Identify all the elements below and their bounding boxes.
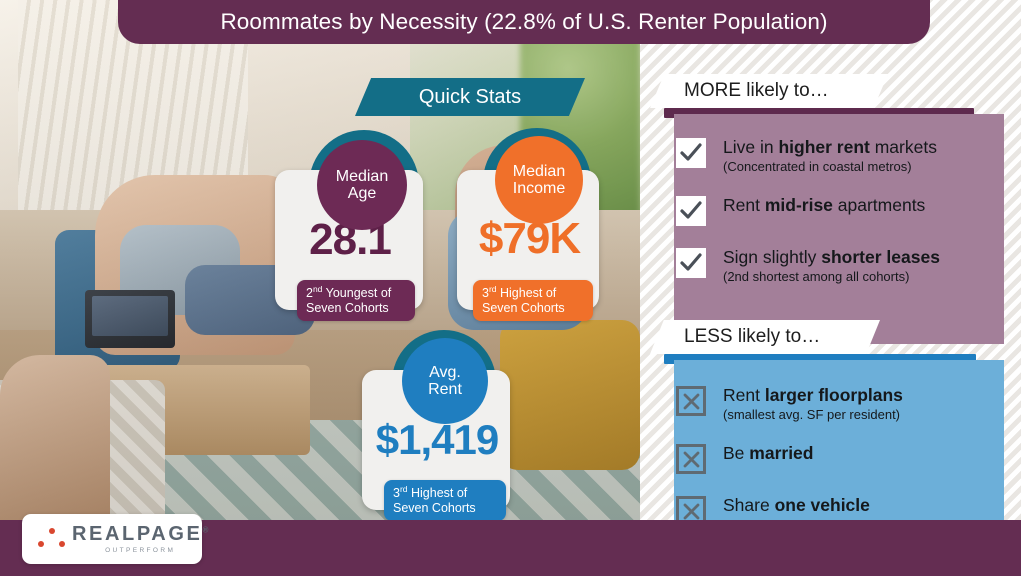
x-icon — [676, 444, 710, 474]
realpage-dots-icon — [36, 526, 70, 552]
stat-badge-line1: 2nd Youngest of — [306, 284, 406, 301]
list-item: Rent mid-rise apartments — [676, 196, 998, 226]
realpage-logo: REALPAGE® OUTPERFORM — [22, 514, 202, 564]
stat-bubble-line2: Income — [513, 180, 565, 197]
less-likely-panel: LESS likely to… Rent larger floorplans (… — [650, 296, 1010, 506]
list-item-text: Be married — [723, 444, 998, 464]
stat-card-avg-rent: Avg. Rent $1,419 3rd Highest of Seven Co… — [362, 330, 512, 530]
stat-bubble-median-income: Median Income — [495, 136, 583, 224]
stat-badge-line1: 3rd Highest of — [393, 484, 497, 501]
more-likely-header-label: MORE likely to… — [650, 80, 829, 102]
more-likely-panel: MORE likely to… Live in higher rent mark… — [650, 52, 1010, 302]
stat-bubble-line2: Rent — [428, 381, 462, 398]
stat-badge-median-income: 3rd Highest of Seven Cohorts — [473, 280, 593, 321]
page-title-bar: Roommates by Necessity (22.8% of U.S. Re… — [118, 0, 930, 44]
list-item: Sign slightly shorter leases (2nd shorte… — [676, 248, 998, 284]
stat-badge-line2: Seven Cohorts — [482, 301, 584, 316]
check-icon — [676, 196, 710, 226]
list-item: Be married — [676, 444, 998, 474]
more-likely-list: Live in higher rent markets (Concentrate… — [650, 114, 1010, 306]
stat-bubble-median-age: Median Age — [317, 140, 407, 230]
check-icon — [676, 248, 710, 278]
stat-bubble-line2: Age — [348, 185, 376, 202]
infographic-canvas: Roommates by Necessity (22.8% of U.S. Re… — [0, 0, 1021, 576]
more-likely-header: MORE likely to… — [650, 74, 888, 108]
stat-badge-line2: Seven Cohorts — [393, 501, 497, 516]
list-item-sub: (smallest avg. SF per resident) — [723, 407, 998, 423]
list-item-main: Be married — [723, 444, 998, 464]
stat-bubble-line1: Median — [336, 168, 388, 185]
realpage-name: REALPAGE® — [72, 524, 208, 544]
list-item-main: Live in higher rent markets — [723, 138, 998, 158]
list-item-main: Sign slightly shorter leases — [723, 248, 998, 268]
list-item-sub: (2nd shortest among all cohorts) — [723, 269, 998, 285]
quick-stats-ribbon: Quick Stats — [355, 78, 585, 116]
stat-card-median-income: Median Income $79K 3rd Highest of Seven … — [457, 128, 602, 328]
list-item: Rent larger floorplans (smallest avg. SF… — [676, 386, 998, 422]
list-item-text: Live in higher rent markets (Concentrate… — [723, 138, 998, 174]
list-item-main: Rent larger floorplans — [723, 386, 998, 406]
list-item: Live in higher rent markets (Concentrate… — [676, 138, 998, 174]
stat-bubble-line1: Avg. — [429, 364, 461, 381]
realpage-wordmark: REALPAGE® OUTPERFORM — [72, 524, 208, 554]
stat-card-median-age: Median Age 28.1 2nd Youngest of Seven Co… — [275, 130, 425, 330]
list-item-text: Rent mid-rise apartments — [723, 196, 998, 216]
x-icon — [676, 386, 710, 416]
realpage-tagline: OUTPERFORM — [72, 547, 208, 554]
stat-bubble-avg-rent: Avg. Rent — [402, 338, 488, 424]
check-icon — [676, 138, 710, 168]
page-title: Roommates by Necessity (22.8% of U.S. Re… — [220, 9, 827, 35]
list-item-text: Share one vehicle — [723, 496, 998, 516]
list-item-main: Share one vehicle — [723, 496, 998, 516]
less-likely-header-label: LESS likely to… — [650, 326, 820, 348]
list-item-text: Rent larger floorplans (smallest avg. SF… — [723, 386, 998, 422]
quick-stats-label: Quick Stats — [419, 86, 521, 109]
stat-badge-median-age: 2nd Youngest of Seven Cohorts — [297, 280, 415, 321]
stat-bubble-line1: Median — [513, 163, 565, 180]
stat-badge-line2: Seven Cohorts — [306, 301, 406, 316]
list-item-sub: (Concentrated in coastal metros) — [723, 159, 998, 175]
list-item-text: Sign slightly shorter leases (2nd shorte… — [723, 248, 998, 284]
stat-badge-avg-rent: 3rd Highest of Seven Cohorts — [384, 480, 506, 521]
list-item-main: Rent mid-rise apartments — [723, 196, 998, 216]
less-likely-header: LESS likely to… — [650, 320, 880, 354]
stat-badge-line1: 3rd Highest of — [482, 284, 584, 301]
